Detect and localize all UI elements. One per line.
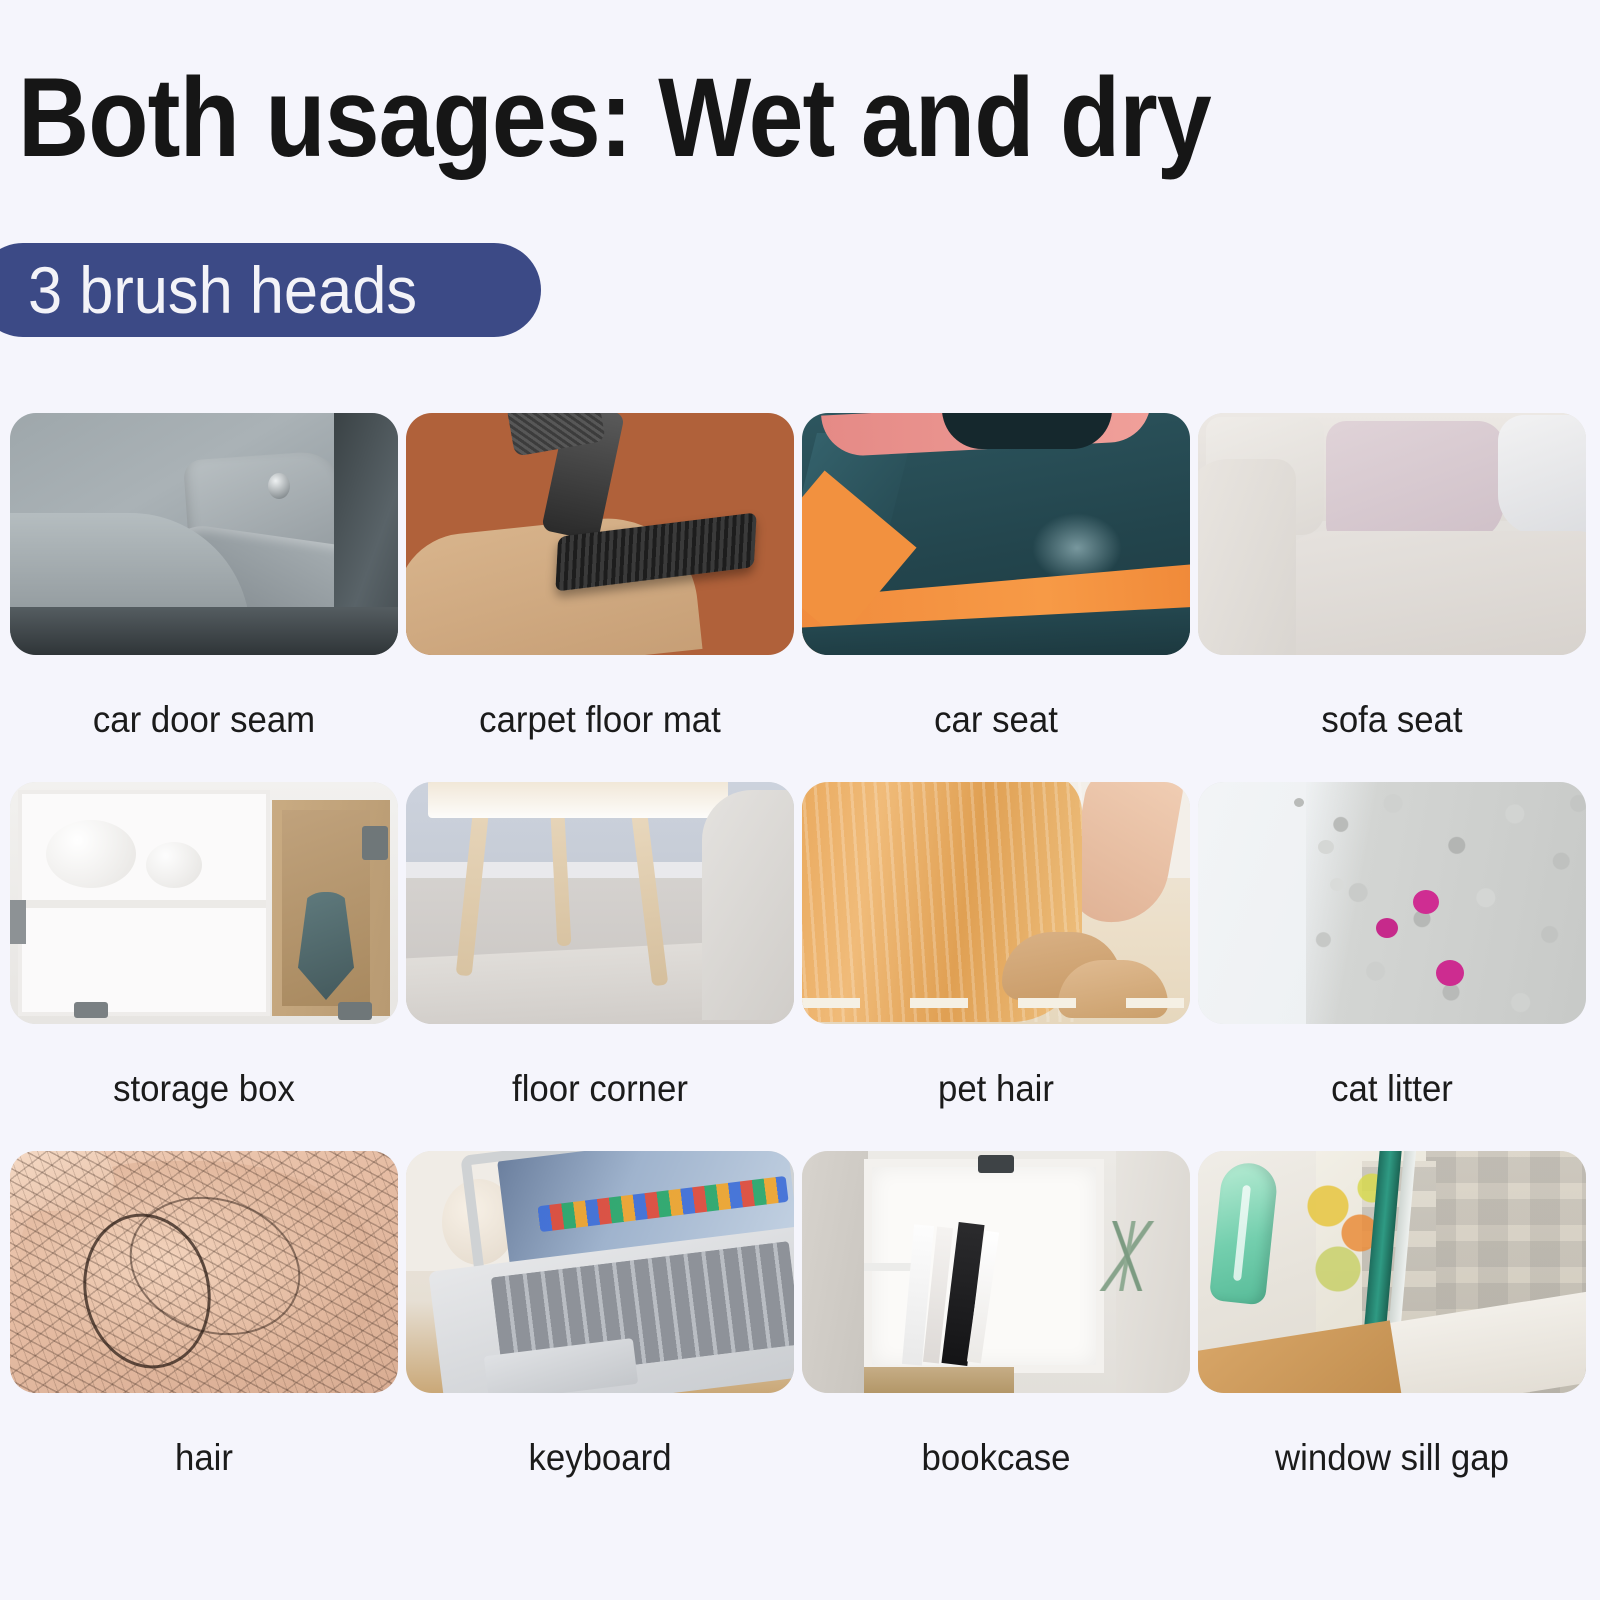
usage-scenario-grid: car door seam carpet floor mat	[10, 413, 1594, 1520]
grid-row: storage box floor corner	[10, 782, 1594, 1151]
grid-cell-label: cat litter	[1210, 1024, 1575, 1151]
grid-cell-car-door-seam[interactable]: car door seam	[10, 413, 398, 782]
grid-cell-car-seat[interactable]: car seat	[802, 413, 1190, 782]
grid-cell-label: floor corner	[418, 1024, 783, 1151]
carpet-floor-mat-photo	[406, 413, 794, 655]
grid-cell-label: car seat	[814, 655, 1179, 782]
car-door-seam-photo	[10, 413, 398, 655]
grid-cell-label: sofa seat	[1210, 655, 1575, 782]
grid-cell-pet-hair[interactable]: pet hair	[802, 782, 1190, 1151]
grid-cell-carpet-floor-mat[interactable]: carpet floor mat	[406, 413, 794, 782]
grid-cell-keyboard[interactable]: keyboard	[406, 1151, 794, 1520]
grid-cell-window-sill-gap[interactable]: window sill gap	[1198, 1151, 1586, 1520]
badge-label: 3 brush heads	[28, 255, 417, 325]
pet-hair-photo	[802, 782, 1190, 1024]
car-seat-photo	[802, 413, 1190, 655]
grid-row: hair keyboard	[10, 1151, 1594, 1520]
cat-litter-photo	[1198, 782, 1586, 1024]
badge-3-brush-heads: 3 brush heads	[0, 243, 541, 337]
grid-cell-label: carpet floor mat	[418, 655, 783, 782]
grid-row: car door seam carpet floor mat	[10, 413, 1594, 782]
sofa-seat-photo	[1198, 413, 1586, 655]
keyboard-photo	[406, 1151, 794, 1393]
bookcase-photo	[802, 1151, 1190, 1393]
grid-cell-label: car door seam	[22, 655, 387, 782]
grid-cell-label: window sill gap	[1210, 1393, 1575, 1520]
grid-cell-label: storage box	[22, 1024, 387, 1151]
grid-cell-storage-box[interactable]: storage box	[10, 782, 398, 1151]
storage-box-photo	[10, 782, 398, 1024]
grid-cell-cat-litter[interactable]: cat litter	[1198, 782, 1586, 1151]
grid-cell-sofa-seat[interactable]: sofa seat	[1198, 413, 1586, 782]
grid-cell-bookcase[interactable]: bookcase	[802, 1151, 1190, 1520]
grid-cell-label: hair	[22, 1393, 387, 1520]
grid-cell-hair[interactable]: hair	[10, 1151, 398, 1520]
floor-corner-photo	[406, 782, 794, 1024]
hair-photo	[10, 1151, 398, 1393]
grid-cell-label: pet hair	[814, 1024, 1179, 1151]
grid-cell-label: keyboard	[418, 1393, 783, 1520]
grid-cell-floor-corner[interactable]: floor corner	[406, 782, 794, 1151]
window-sill-gap-photo	[1198, 1151, 1586, 1393]
page-title: Both usages: Wet and dry	[18, 62, 1211, 174]
grid-cell-label: bookcase	[814, 1393, 1179, 1520]
